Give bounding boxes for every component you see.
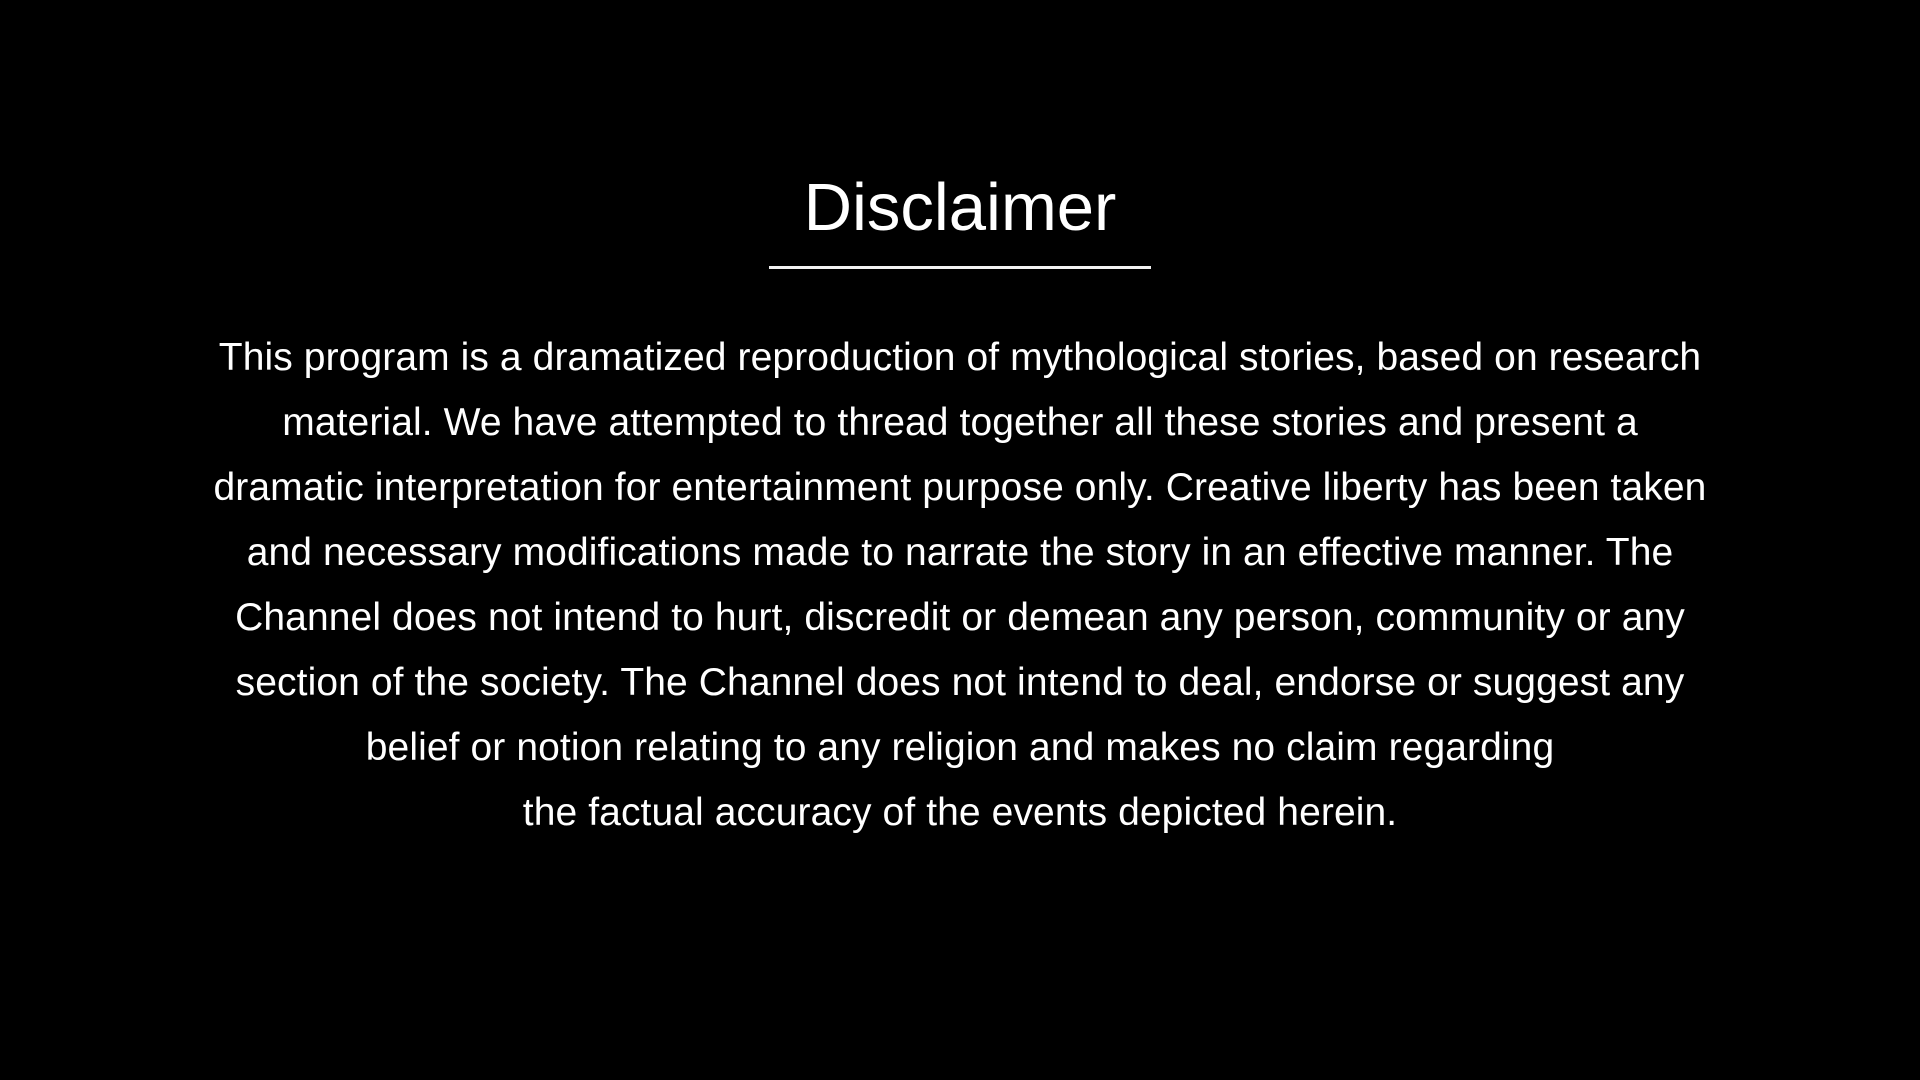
- disclaimer-line: This program is a dramatized reproductio…: [0, 325, 1920, 390]
- disclaimer-line: section of the society. The Channel does…: [0, 650, 1920, 715]
- disclaimer-line: dramatic interpretation for entertainmen…: [0, 455, 1920, 520]
- disclaimer-text-block: This program is a dramatized reproductio…: [0, 325, 1920, 845]
- title-underline-rule: [769, 266, 1151, 269]
- disclaimer-line: Channel does not intend to hurt, discred…: [0, 585, 1920, 650]
- disclaimer-line: material. We have attempted to thread to…: [0, 390, 1920, 455]
- disclaimer-slide: Disclaimer This program is a dramatized …: [0, 0, 1920, 1080]
- title-block: Disclaimer: [0, 172, 1920, 244]
- disclaimer-line: belief or notion relating to any religio…: [0, 715, 1920, 780]
- page-title: Disclaimer: [0, 172, 1920, 244]
- disclaimer-line: and necessary modifications made to narr…: [0, 520, 1920, 585]
- disclaimer-line: the factual accuracy of the events depic…: [0, 780, 1920, 845]
